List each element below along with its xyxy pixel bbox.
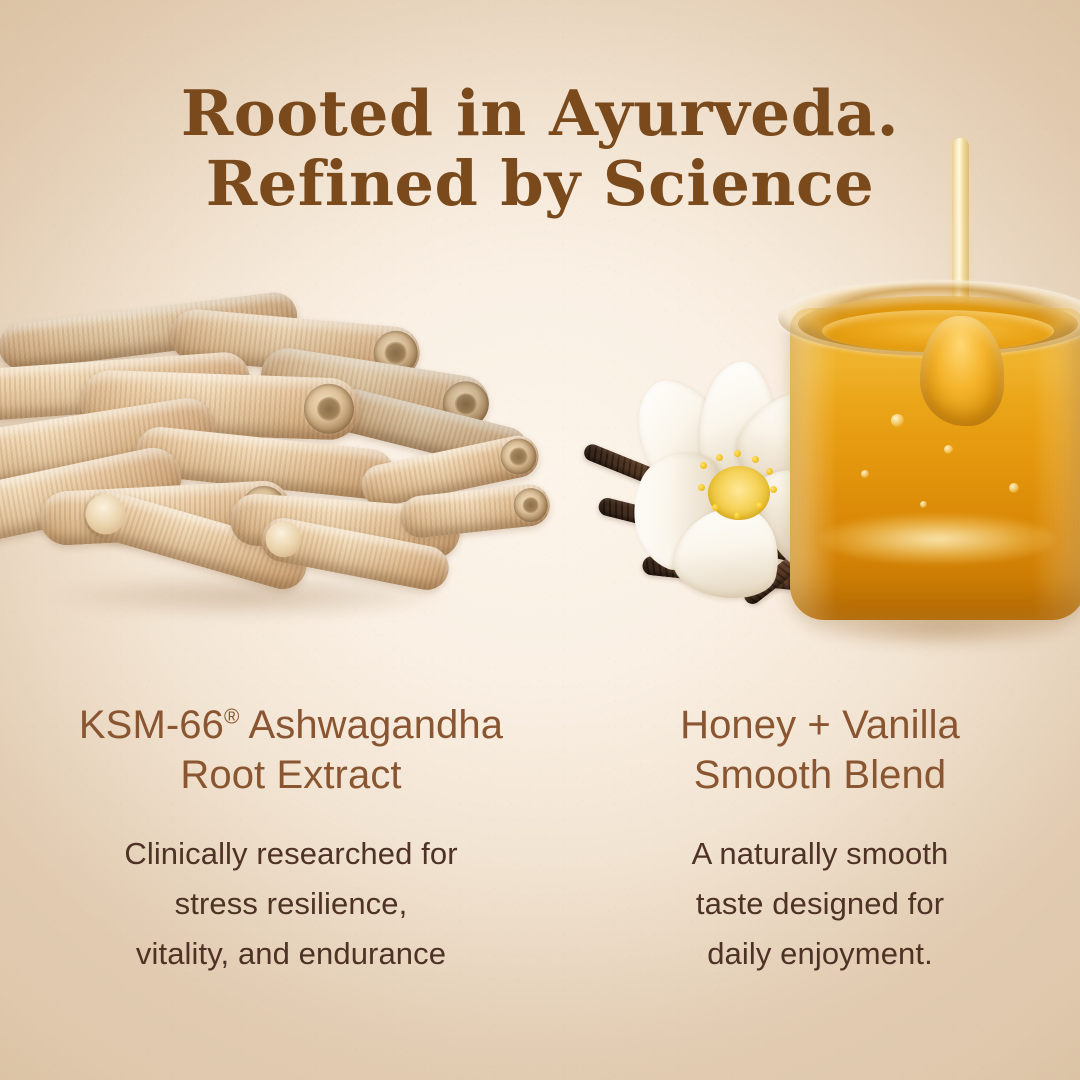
ingredient-column-ashwagandha: KSM-66® Ashwagandha Root Extract Clinica…	[26, 700, 556, 979]
ingredient-title-line-2: Root Extract	[26, 750, 556, 800]
flower-stamen	[716, 454, 723, 461]
honey-pour-blob	[920, 316, 1004, 426]
flower-stamen	[698, 484, 705, 491]
ashwagandha-roots-image	[0, 300, 570, 650]
ingredient-title: Honey + Vanilla Smooth Blend	[580, 700, 1060, 801]
honey-bubble	[891, 414, 904, 427]
root-cut-face	[303, 383, 355, 435]
root-cut-face	[512, 486, 549, 523]
description-line: stress resilience,	[26, 879, 556, 929]
ingredient-description: A naturally smooth taste designed for da…	[580, 829, 1060, 980]
page-title: Rooted in Ayurveda. Refined by Science	[0, 78, 1080, 218]
flower-stamen	[712, 504, 719, 511]
ingredient-title: KSM-66® Ashwagandha Root Extract	[26, 700, 556, 801]
ingredient-column-honey-vanilla: Honey + Vanilla Smooth Blend A naturally…	[580, 700, 1060, 979]
registered-trademark-icon: ®	[224, 706, 239, 729]
flower-stamen	[752, 456, 759, 463]
ingredient-title-line-2: Smooth Blend	[580, 750, 1060, 800]
ingredient-description: Clinically researched for stress resilie…	[26, 829, 556, 980]
ingredient-name: Ashwagandha	[239, 703, 503, 747]
flower-stamen	[734, 450, 741, 457]
ingredient-title-line-1: Honey + Vanilla	[580, 700, 1060, 750]
ingredient-benefits-poster: Rooted in Ayurveda. Refined by Science K…	[0, 0, 1080, 1080]
honey-bubble	[920, 501, 927, 508]
headline-line-1: Rooted in Ayurveda.	[0, 78, 1080, 149]
description-line: taste designed for	[580, 879, 1060, 929]
honey-bubble	[1009, 483, 1019, 493]
description-line: daily enjoyment.	[580, 929, 1060, 979]
brand-name: KSM-66	[79, 703, 224, 747]
honey-bubble	[944, 445, 953, 454]
description-line: Clinically researched for	[26, 829, 556, 879]
flower-stamen	[734, 512, 741, 519]
root-tip	[262, 518, 304, 560]
ingredient-title-line-1: KSM-66® Ashwagandha	[79, 703, 503, 747]
headline-line-2: Refined by Science	[0, 149, 1080, 218]
honey-bubble	[861, 470, 869, 478]
flower-stamen	[700, 462, 707, 469]
root-cut-face	[497, 435, 540, 478]
flower-stamen	[756, 502, 763, 509]
description-line: A naturally smooth	[580, 829, 1060, 879]
description-line: vitality, and endurance	[26, 929, 556, 979]
